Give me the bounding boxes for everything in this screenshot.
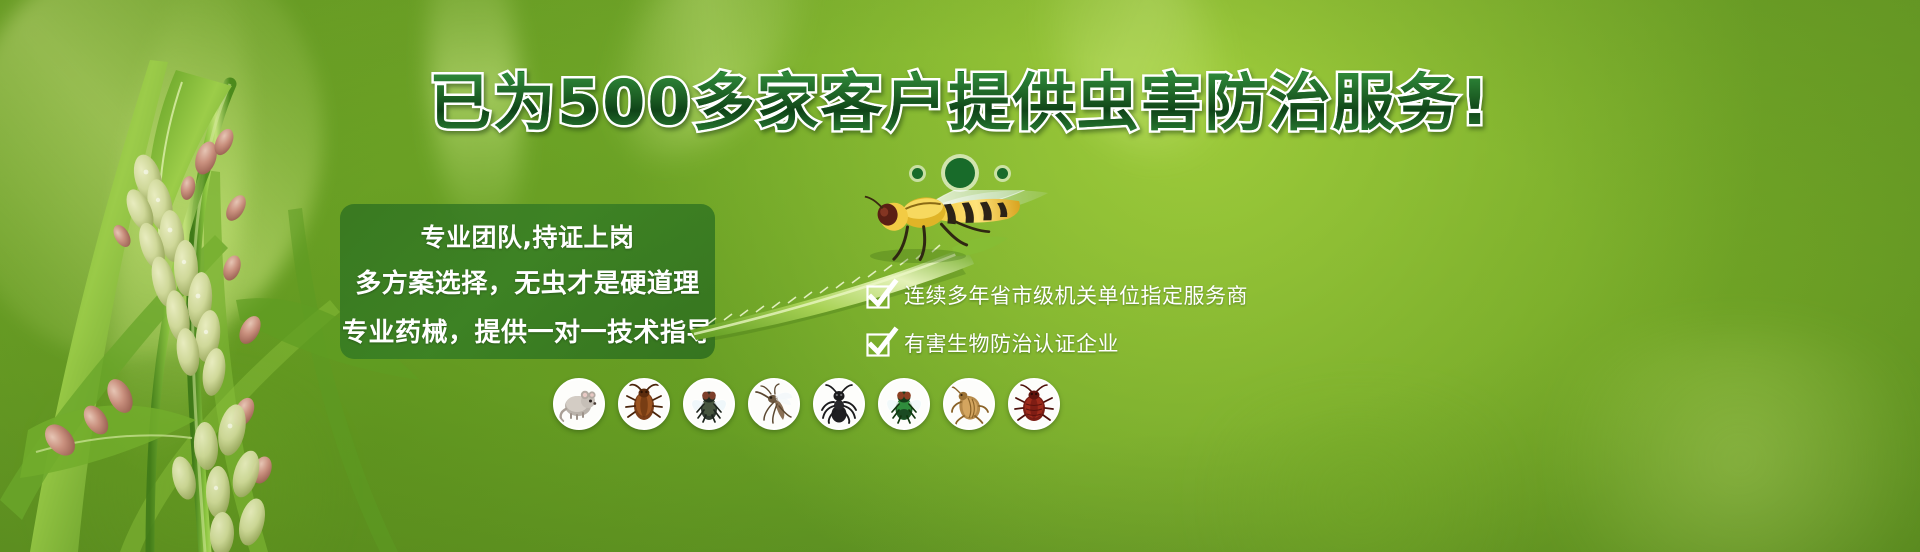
dot-small-right-icon (997, 168, 1008, 179)
dot-small-left-icon (912, 168, 923, 179)
list-item: 连续多年省市级机关单位指定服务商 (866, 272, 1296, 320)
pest-control-hero-banner: 已为500多家客户提供虫害防治服务! 已为500多家客户提供虫害防治服务! 专业… (0, 0, 1920, 552)
checkbox-checked-icon (866, 331, 892, 357)
list-item: 有害生物防治认证企业 (866, 320, 1296, 368)
bedbug-icon[interactable] (1008, 378, 1060, 430)
rat-icon[interactable] (553, 378, 605, 430)
promo-line-3: 专业药械，提供一对一技术指导 (340, 309, 715, 358)
promo-text-box: 专业团队,持证上岗 多方案选择，无虫才是硬道理 专业药械，提供一对一技术指导 (340, 204, 715, 359)
checkbox-checked-icon (866, 283, 892, 309)
cockroach-icon[interactable] (618, 378, 670, 430)
fly-icon[interactable] (683, 378, 735, 430)
list-item-label: 有害生物防治认证企业 (904, 332, 1119, 356)
promo-line-1: 专业团队,持证上岗 (340, 215, 715, 260)
feature-list: 连续多年省市级机关单位指定服务商 有害生物防治认证企业 (866, 272, 1296, 368)
pest-icon-row (553, 378, 1060, 430)
flea-icon[interactable] (943, 378, 995, 430)
decorative-dot-row (0, 158, 1920, 188)
mosquito-icon[interactable] (748, 378, 800, 430)
promo-line-2: 多方案选择，无虫才是硬道理 (340, 260, 715, 309)
ant-icon[interactable] (813, 378, 865, 430)
blowfly-icon[interactable] (878, 378, 930, 430)
list-item-label: 连续多年省市级机关单位指定服务商 (904, 284, 1248, 308)
dot-large-center-icon (945, 158, 975, 188)
